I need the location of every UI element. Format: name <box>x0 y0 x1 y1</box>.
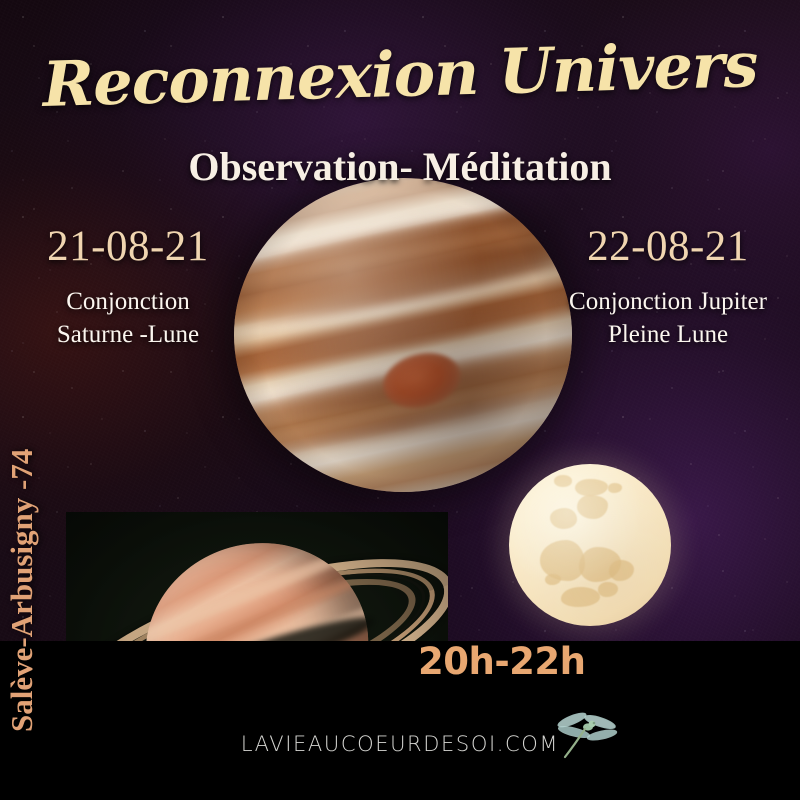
event-description-left: ConjonctionSaturne -Lune <box>12 285 244 351</box>
event-date-right: 22-08-21 <box>546 222 790 271</box>
event-time: 20h-22h <box>418 640 586 683</box>
poster-canvas: Reconnexion Univers Observation- Méditat… <box>0 0 800 800</box>
event-block-left: 21-08-21 ConjonctionSaturne -Lune <box>12 222 244 351</box>
jupiter-shading <box>234 178 572 492</box>
poster-subtitle: Observation- Méditation <box>0 143 800 190</box>
moon-shading <box>509 464 671 626</box>
event-block-right: 22-08-21 Conjonction JupiterPleine Lune <box>546 222 790 351</box>
website-url: LAVIEAUCOEURDESOI.COM <box>0 732 800 756</box>
event-description-right: Conjonction JupiterPleine Lune <box>546 285 790 351</box>
full-moon-illustration <box>509 464 671 626</box>
event-date-left: 21-08-21 <box>12 222 244 271</box>
event-location: Salève-Arbusigny -74 <box>0 116 44 446</box>
jupiter-planet-photo <box>234 178 572 492</box>
bottom-black-band <box>0 641 800 800</box>
event-location-label: Salève-Arbusigny -74 <box>4 449 40 732</box>
